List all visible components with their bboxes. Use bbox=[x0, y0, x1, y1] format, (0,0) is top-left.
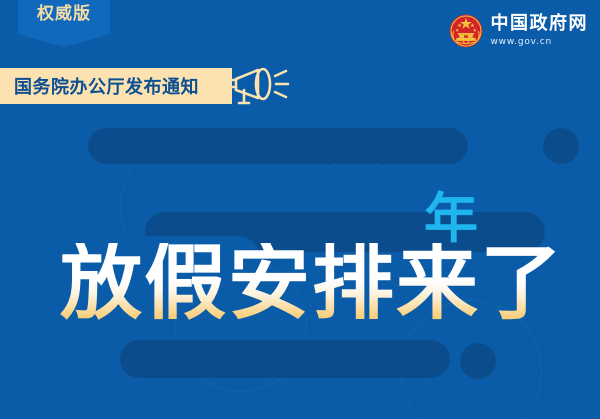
decorative-bar bbox=[88, 128, 468, 164]
background-decoration bbox=[0, 0, 600, 419]
china-national-emblem-icon bbox=[449, 14, 483, 48]
notice-banner-text: 国务院办公厅发布通知 bbox=[14, 73, 199, 99]
decorative-bar bbox=[120, 340, 450, 378]
decorative-dot bbox=[543, 128, 579, 164]
gov-site-name: 中国政府网 bbox=[491, 15, 589, 33]
poster-root: 权威版 中国政府网 www.go bbox=[0, 0, 600, 419]
headline-main: 放假安排来了 bbox=[60, 243, 564, 325]
gov-logo: 中国政府网 www.gov.cn bbox=[449, 14, 589, 48]
notice-banner: 国务院办公厅发布通知 bbox=[0, 68, 232, 104]
authority-badge-label: 权威版 bbox=[37, 6, 91, 23]
gov-site-url: www.gov.cn bbox=[491, 38, 589, 47]
gov-logo-text: 中国政府网 www.gov.cn bbox=[491, 15, 589, 47]
decorative-dot bbox=[460, 343, 496, 379]
megaphone-icon bbox=[224, 63, 294, 109]
